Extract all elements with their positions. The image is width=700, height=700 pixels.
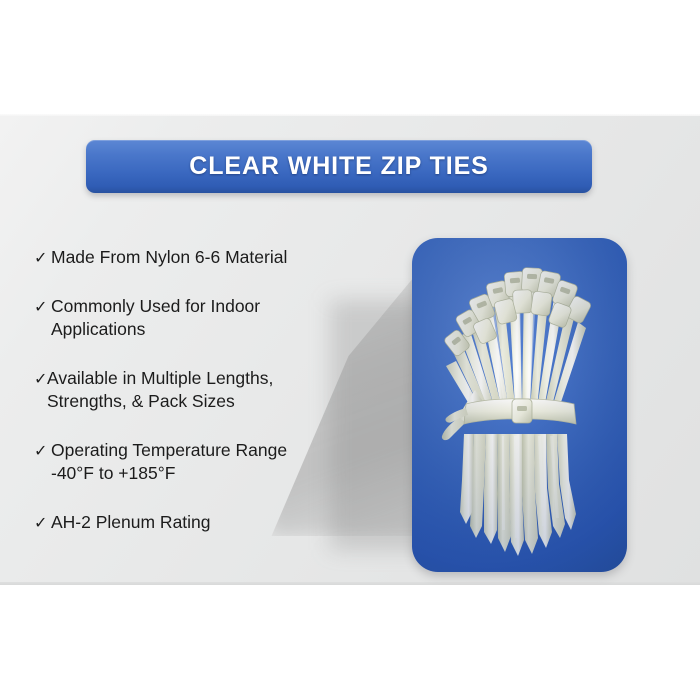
check-icon: ✓ xyxy=(34,295,51,318)
feature-line-1: Made From Nylon 6-6 Material xyxy=(51,247,287,267)
check-icon: ✓ xyxy=(34,511,51,534)
check-icon: ✓ xyxy=(34,439,51,462)
feature-text: AH-2 Plenum Rating xyxy=(51,511,211,534)
feature-line-1: Available in Multiple Lengths, xyxy=(47,368,273,388)
feature-text: Commonly Used for Indoor Applications xyxy=(51,295,260,341)
list-item: ✓ Commonly Used for Indoor Applications xyxy=(34,295,364,341)
infographic-stage: CLEAR WHITE ZIP TIES ✓ Made From Nylon 6… xyxy=(0,0,700,700)
list-item: ✓ Made From Nylon 6-6 Material xyxy=(34,246,364,269)
list-item: ✓ Operating Temperature Range -40°F to +… xyxy=(34,439,364,485)
check-icon: ✓ xyxy=(34,367,47,390)
page-title: CLEAR WHITE ZIP TIES xyxy=(189,152,489,181)
feature-line-1: Commonly Used for Indoor xyxy=(51,296,260,316)
list-item: ✓ Available in Multiple Lengths, Strengt… xyxy=(34,367,364,413)
title-banner: CLEAR WHITE ZIP TIES xyxy=(86,140,592,193)
feature-text: Operating Temperature Range -40°F to +18… xyxy=(51,439,287,485)
zip-tie-bundle-image xyxy=(412,238,627,572)
feature-line-2: -40°F to +185°F xyxy=(51,462,287,485)
feature-line-1: AH-2 Plenum Rating xyxy=(51,512,211,532)
feature-text: Made From Nylon 6-6 Material xyxy=(51,246,287,269)
bottom-white-margin xyxy=(0,585,700,700)
feature-list: ✓ Made From Nylon 6-6 Material ✓ Commonl… xyxy=(34,246,364,534)
check-icon: ✓ xyxy=(34,246,51,269)
feature-line-2: Applications xyxy=(51,318,260,341)
list-item: ✓ AH-2 Plenum Rating xyxy=(34,511,364,534)
product-image-panel xyxy=(412,238,627,572)
feature-line-1: Operating Temperature Range xyxy=(51,440,287,460)
feature-text: Available in Multiple Lengths, Strengths… xyxy=(47,367,273,413)
feature-line-2: Strengths, & Pack Sizes xyxy=(47,390,273,413)
panel-top-divider xyxy=(0,114,700,116)
